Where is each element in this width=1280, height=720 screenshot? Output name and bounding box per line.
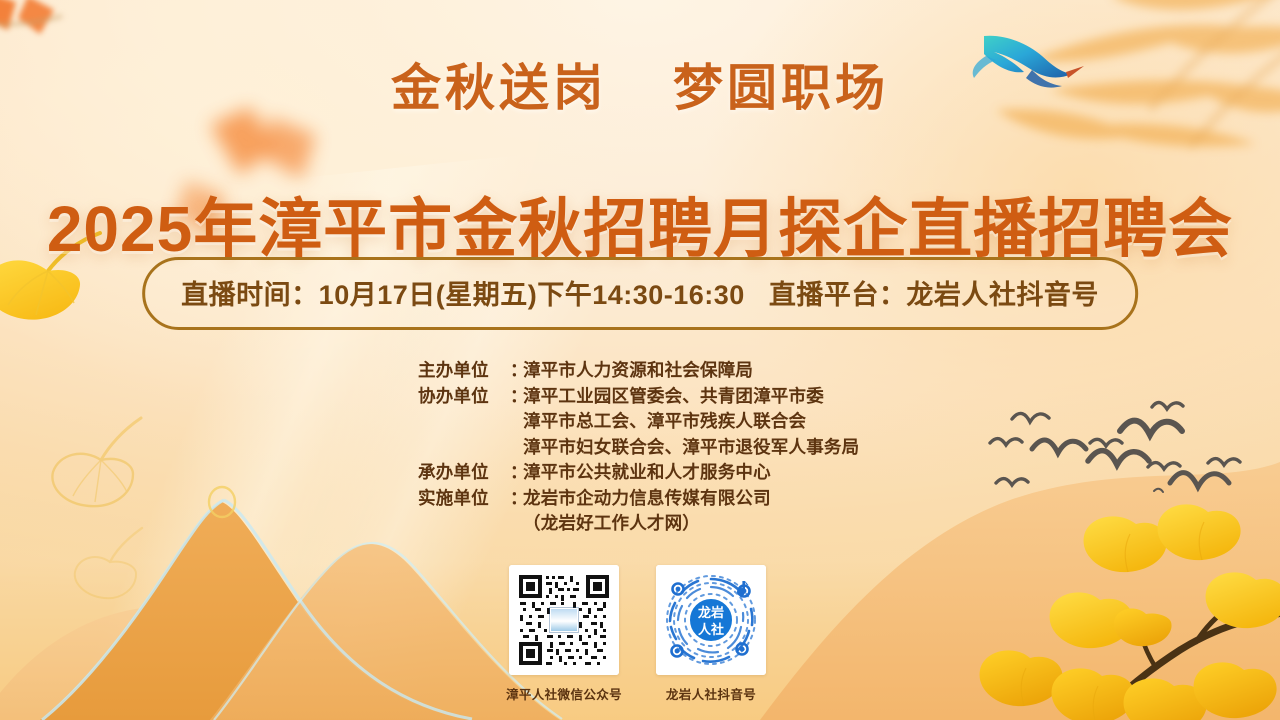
qr-caption-wechat: 漳平人社微信公众号 — [505, 684, 623, 703]
ginkgo-leaf-faint-icon — [45, 408, 165, 518]
organizer-label: 主办单位 — [418, 358, 510, 384]
organizer-list: 主办单位 ： 漳平市人力资源和社会保障局 协办单位 ： 漳平工业园区管委会、共青… — [418, 358, 859, 537]
organizer-label: 协办单位 — [418, 384, 510, 410]
ginkgo-leaf-faint-2-icon — [70, 520, 160, 605]
douyin-qr-icon[interactable]: 龙岩 人社 — [656, 565, 766, 675]
poster-slogan: 金秋送岗 梦圆职场 — [0, 48, 1280, 120]
wechat-account-logo-icon — [550, 608, 578, 632]
organizer-value: 龙岩市企动力信息传媒有限公司 — [523, 486, 771, 512]
organizer-row: 协办单位 ： 漳平市总工会、漳平市残疾人联合会 — [418, 409, 859, 435]
organizer-row: 承办单位 ： 漳平市公共就业和人才服务中心 — [418, 460, 859, 486]
flying-birds-icon — [970, 395, 1270, 545]
organizer-row: 主办单位 ： 漳平市人力资源和社会保障局 — [418, 358, 859, 384]
organizer-label: 承办单位 — [418, 460, 510, 486]
organizer-colon: ： — [510, 486, 523, 512]
organizer-value: 漳平市人力资源和社会保障局 — [523, 358, 753, 384]
organizer-colon: ： — [510, 358, 523, 384]
organizer-colon: ： — [510, 384, 523, 410]
qr-item-douyin[interactable]: 龙岩 人社 龙岩人社抖音号 — [652, 565, 770, 703]
organizer-row: 实施单位 ： 龙岩市企动力信息传媒有限公司 — [418, 486, 859, 512]
broadcast-info-bar: 直播时间：10月17日(星期五)下午14:30-16:30 直播平台：龙岩人社抖… — [142, 257, 1138, 330]
ginkgo-branch-icon — [960, 490, 1280, 720]
organizer-value: 漳平市总工会、漳平市残疾人联合会 — [523, 409, 806, 435]
organizer-value: 漳平市公共就业和人才服务中心 — [523, 460, 771, 486]
organizer-value: 漳平市妇女联合会、漳平市退役军人事务局 — [523, 435, 859, 461]
organizer-value: 漳平工业园区管委会、共青团漳平市委 — [523, 384, 824, 410]
qr-item-wechat[interactable]: 漳平人社微信公众号 — [505, 565, 623, 703]
organizer-value: （龙岩好工作人才网） — [523, 511, 700, 537]
douyin-center-text-line2: 人社 — [698, 622, 724, 637]
recruitment-poster: 金秋送岗 梦圆职场 2025年漳平市金秋招聘月探企直播招聘会 直播时间：10月1… — [0, 0, 1280, 720]
organizer-label: 实施单位 — [418, 486, 510, 512]
organizer-row: 协办单位 ： 漳平市妇女联合会、漳平市退役军人事务局 — [418, 435, 859, 461]
organizer-row: 协办单位 ： 漳平工业园区管委会、共青团漳平市委 — [418, 384, 859, 410]
organizer-colon: ： — [510, 460, 523, 486]
douyin-center-text-line1: 龙岩 — [698, 605, 724, 620]
qr-code-group: 漳平人社微信公众号 — [505, 565, 770, 703]
wechat-qr-icon[interactable] — [509, 565, 619, 675]
organizer-row: 实施单位 ： （龙岩好工作人才网） — [418, 511, 859, 537]
qr-caption-douyin: 龙岩人社抖音号 — [652, 684, 770, 703]
